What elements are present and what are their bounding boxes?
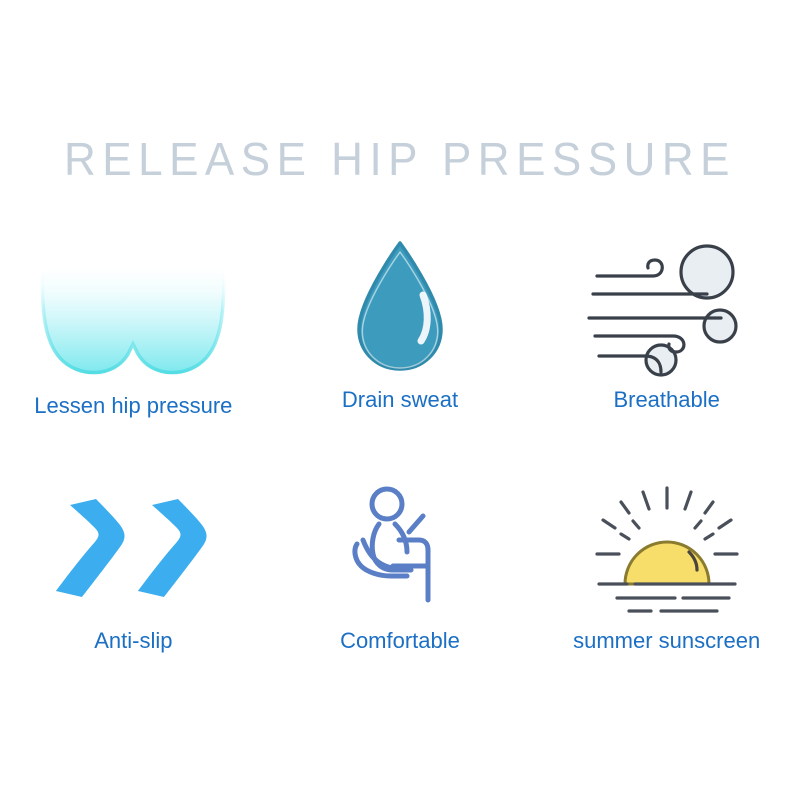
feature-label: Lessen hip pressure [34, 394, 232, 418]
water-drop-icon [267, 232, 534, 382]
feature-item-drain-sweat[interactable]: Drain sweat [267, 232, 534, 467]
feature-item-breathable[interactable]: Breathable [533, 232, 800, 467]
page-title: RELEASE HIP PRESSURE [0, 125, 800, 195]
hip-cushion-icon [0, 232, 267, 388]
seated-person-icon [267, 467, 534, 627]
sunrise-icon [533, 467, 800, 627]
feature-label: Anti-slip [94, 629, 172, 653]
feature-item-summer-sunscreen[interactable]: summer sunscreen [533, 467, 800, 702]
feature-item-comfortable[interactable]: Comfortable [267, 467, 534, 702]
wind-icon [533, 232, 800, 382]
feature-label: Breathable [613, 388, 719, 412]
page-title-text: RELEASE HIP PRESSURE [64, 137, 736, 184]
double-chevron-icon [0, 467, 267, 627]
feature-label: Drain sweat [342, 388, 458, 412]
feature-item-anti-slip[interactable]: Anti-slip [0, 467, 267, 702]
feature-grid: Lessen hip pressure Drain sweat [0, 232, 800, 702]
feature-label: summer sunscreen [573, 629, 760, 653]
feature-label: Comfortable [340, 629, 460, 653]
feature-item-lessen-hip-pressure[interactable]: Lessen hip pressure [0, 232, 267, 467]
feature-infographic: RELEASE HIP PRESSURE [0, 0, 800, 800]
